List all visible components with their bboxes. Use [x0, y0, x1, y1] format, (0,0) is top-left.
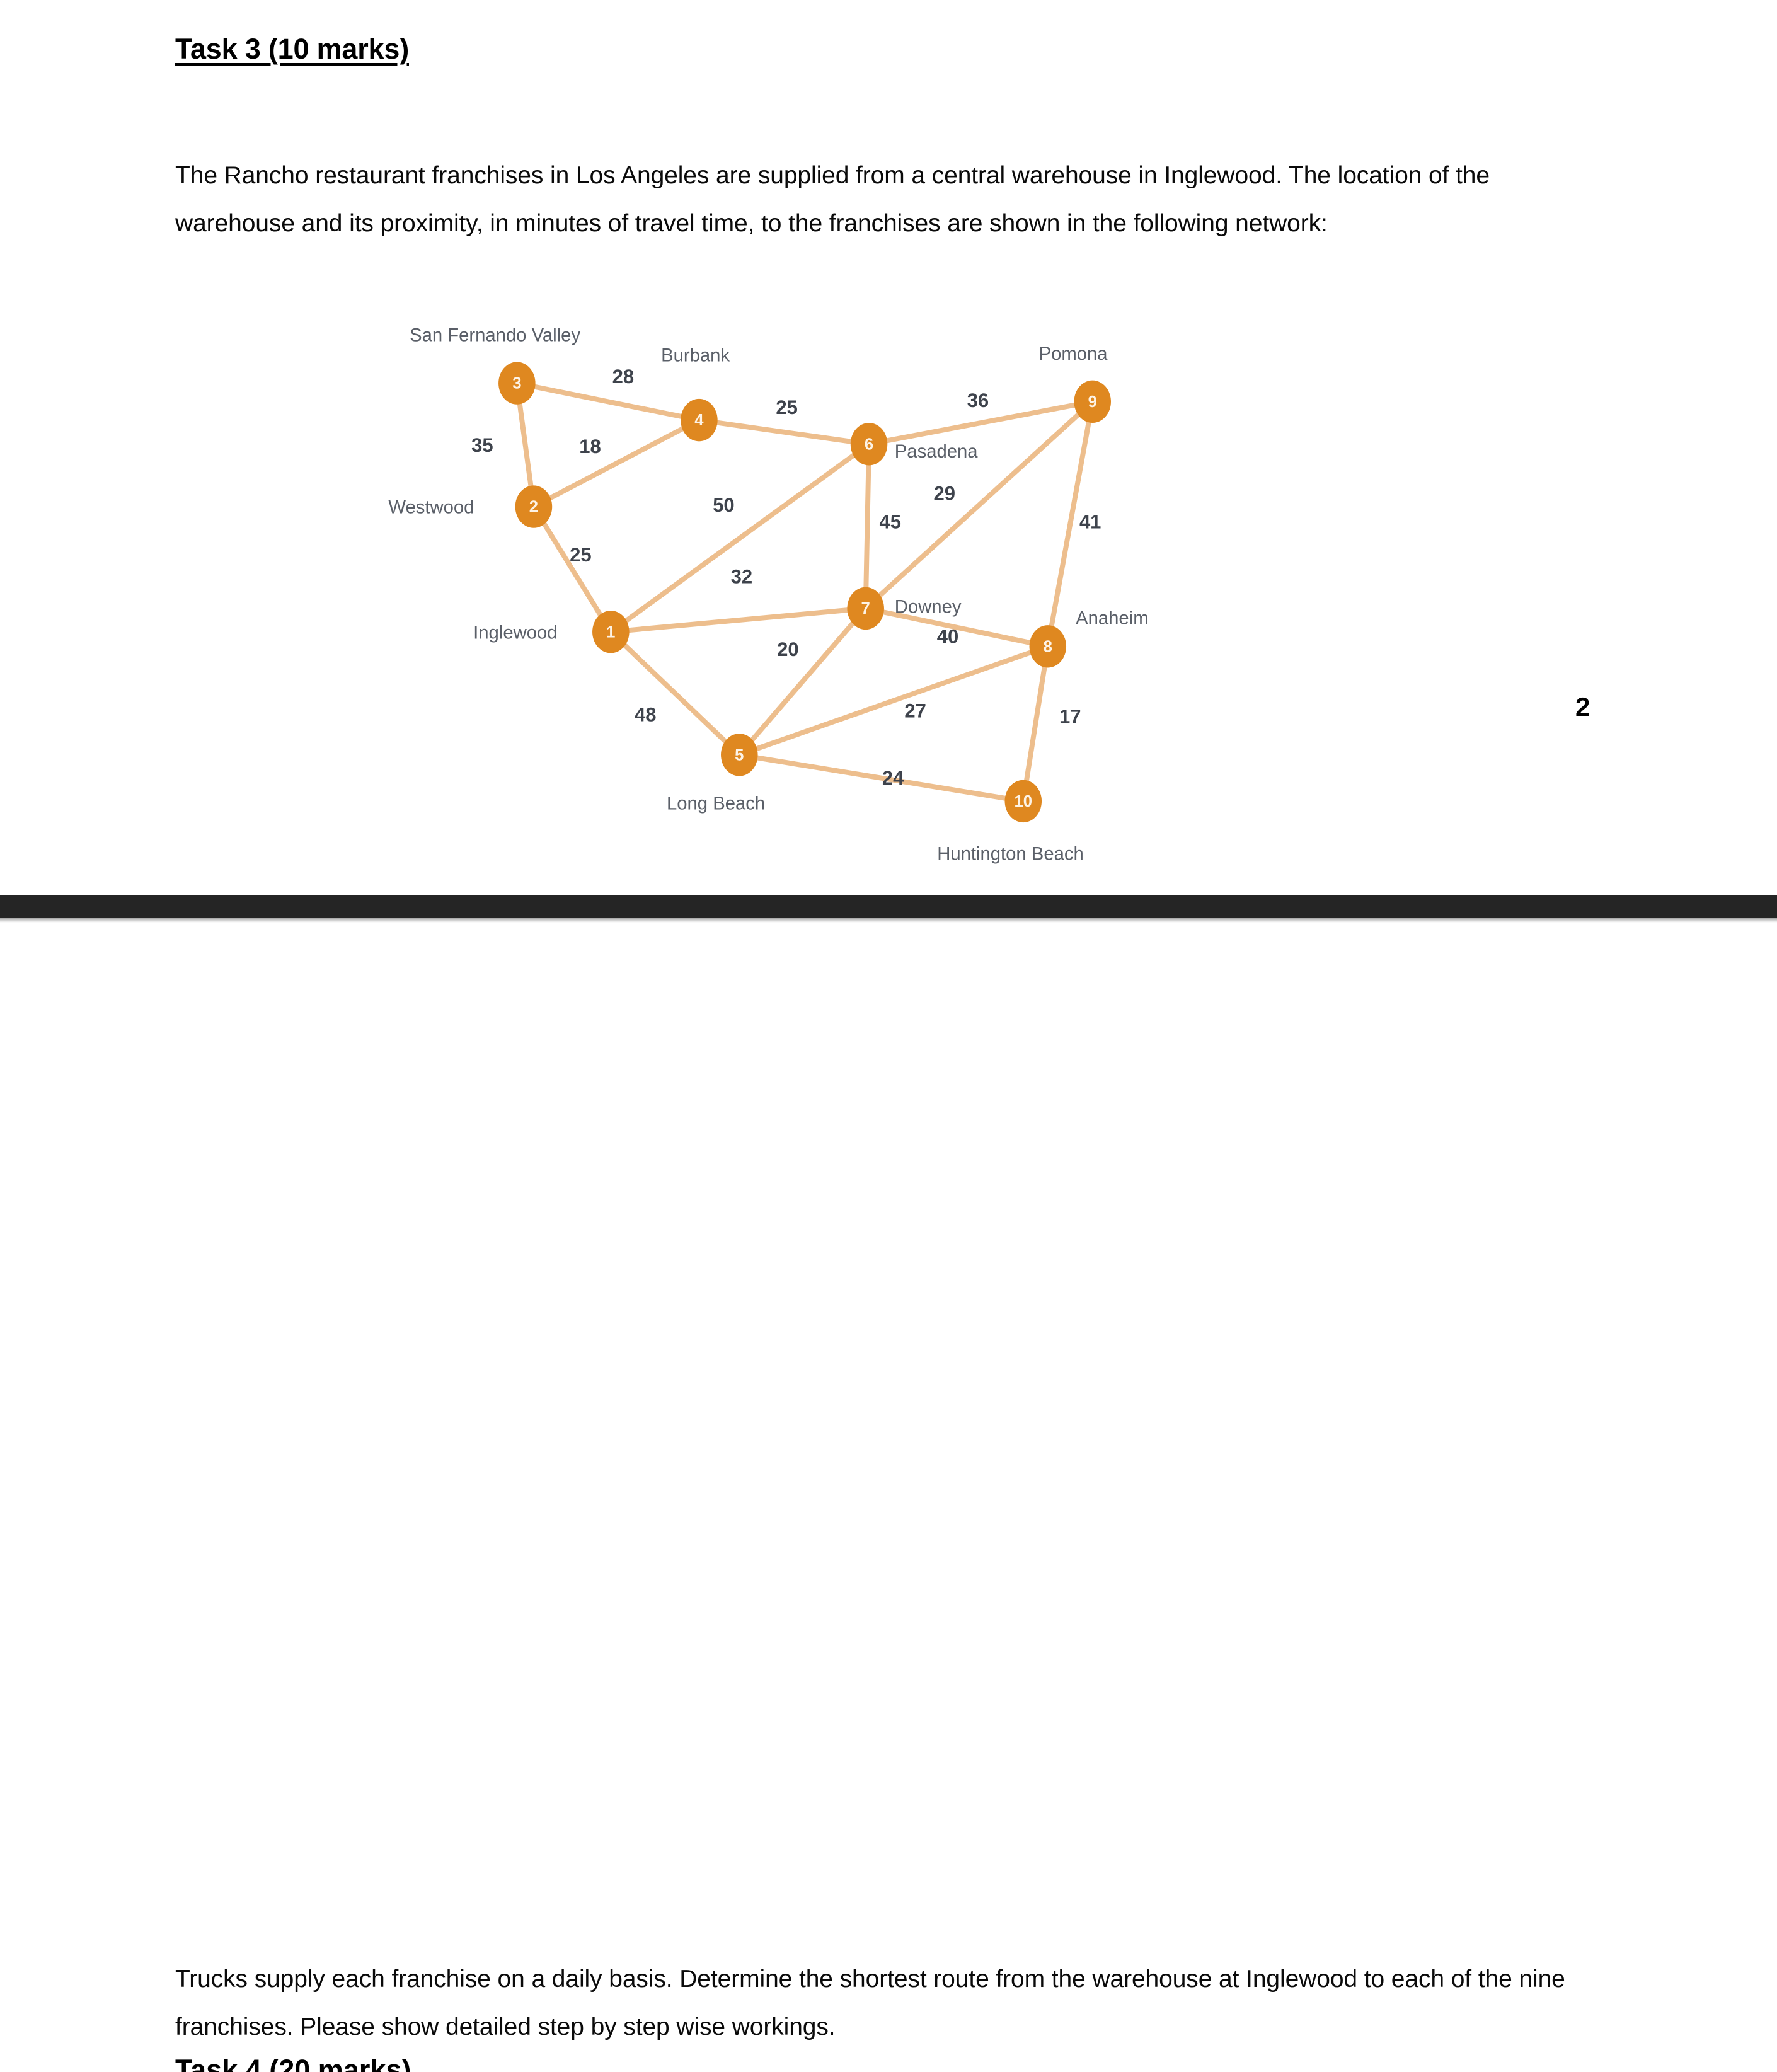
network-node[interactable]: 8	[1030, 625, 1067, 667]
node-number-8: 8	[1044, 638, 1052, 655]
next-task-title: Task 4 (20 marks)	[175, 2054, 411, 2072]
network-node[interactable]: 6	[851, 423, 888, 465]
network-node[interactable]: 5	[721, 734, 758, 776]
node-number-10: 10	[1014, 793, 1032, 810]
network-edge	[517, 383, 699, 420]
closing-paragraph: Trucks supply each franchise on a daily …	[175, 1955, 1593, 2051]
node-number-3: 3	[512, 375, 521, 393]
network-node[interactable]: 7	[847, 587, 884, 630]
network-node[interactable]: 4	[681, 399, 718, 441]
page-bottom-section: Trucks supply each franchise on a daily …	[0, 923, 1777, 1149]
node-number-5: 5	[735, 746, 744, 764]
edge-weight-5-8: 27	[904, 699, 926, 722]
edge-weight-9-8: 41	[1079, 511, 1101, 533]
network-edge	[866, 444, 869, 609]
node-number-2: 2	[529, 498, 538, 516]
edge-weight-8-10: 17	[1059, 705, 1081, 727]
page-separator-band	[0, 895, 1777, 918]
edge-weight-4-6: 25	[776, 396, 798, 418]
page-top-section: Task 3 (10 marks) The Rancho restaurant …	[0, 0, 1777, 895]
node-number-4: 4	[694, 412, 704, 429]
node-number-9: 9	[1088, 393, 1097, 411]
network-diagram: 12345678910 2835182525503248364529404120…	[371, 290, 1354, 882]
city-label-westwood: Westwood	[388, 498, 474, 518]
edge-weight-3-2: 35	[471, 434, 493, 456]
page-number: 2	[1575, 692, 1590, 722]
city-label-long-beach: Long Beach	[667, 794, 765, 814]
nodes-group: 12345678910	[498, 362, 1111, 822]
network-edge	[534, 507, 611, 632]
network-edge	[699, 420, 869, 444]
city-label-inglewood: Inglewood	[473, 623, 557, 643]
city-label-pasadena: Pasadena	[895, 442, 978, 462]
node-number-6: 6	[865, 435, 873, 453]
edge-weight-2-4: 18	[579, 435, 601, 458]
network-edge	[739, 755, 1023, 802]
network-edge	[611, 608, 865, 631]
intro-paragraph: The Rancho restaurant franchises in Los …	[175, 152, 1505, 248]
edge-weight-7-8: 40	[937, 625, 959, 647]
edge-weight-1-5: 48	[635, 704, 657, 726]
edge-weight-5-7: 20	[777, 638, 798, 660]
network-node[interactable]: 9	[1074, 381, 1111, 423]
network-node[interactable]: 2	[515, 485, 553, 527]
city-label-huntington-beach: Huntington Beach	[937, 844, 1084, 865]
edge-weight-5-10: 24	[882, 767, 904, 789]
node-number-7: 7	[861, 600, 870, 618]
network-node[interactable]: 10	[1005, 780, 1042, 822]
edge-weight-7-9: 29	[933, 482, 955, 504]
city-label-anaheim: Anaheim	[1076, 608, 1148, 628]
network-node[interactable]: 3	[498, 362, 536, 404]
page-title: Task 3 (10 marks)	[175, 33, 409, 66]
edge-weight-1-7: 32	[731, 566, 752, 588]
network-svg: 12345678910 2835182525503248364529404120…	[371, 290, 1354, 882]
city-label-pomona: Pomona	[1039, 344, 1108, 364]
page-separator-shadow	[0, 918, 1777, 923]
network-edge	[611, 444, 869, 632]
edge-weight-1-6: 50	[713, 494, 735, 516]
edge-weight-3-4: 28	[612, 365, 635, 388]
network-edge	[1023, 647, 1048, 802]
node-number-1: 1	[606, 623, 615, 641]
edge-weight-6-7: 45	[879, 511, 900, 533]
network-node[interactable]: 1	[592, 611, 630, 653]
network-edge	[534, 420, 699, 507]
edges-group	[517, 383, 1092, 801]
network-edge	[611, 632, 739, 755]
edge-weight-6-9: 36	[967, 389, 989, 412]
city-name-labels: San Fernando ValleyBurbankPomonaPasadena…	[388, 326, 1148, 865]
edge-weight-labels: 2835182525503248364529404120272417	[471, 365, 1101, 789]
city-label-downey: Downey	[895, 597, 962, 618]
city-label-burbank: Burbank	[661, 346, 730, 366]
city-label-san-fernando-valley: San Fernando Valley	[410, 326, 580, 346]
edge-weight-2-1: 25	[570, 544, 592, 566]
